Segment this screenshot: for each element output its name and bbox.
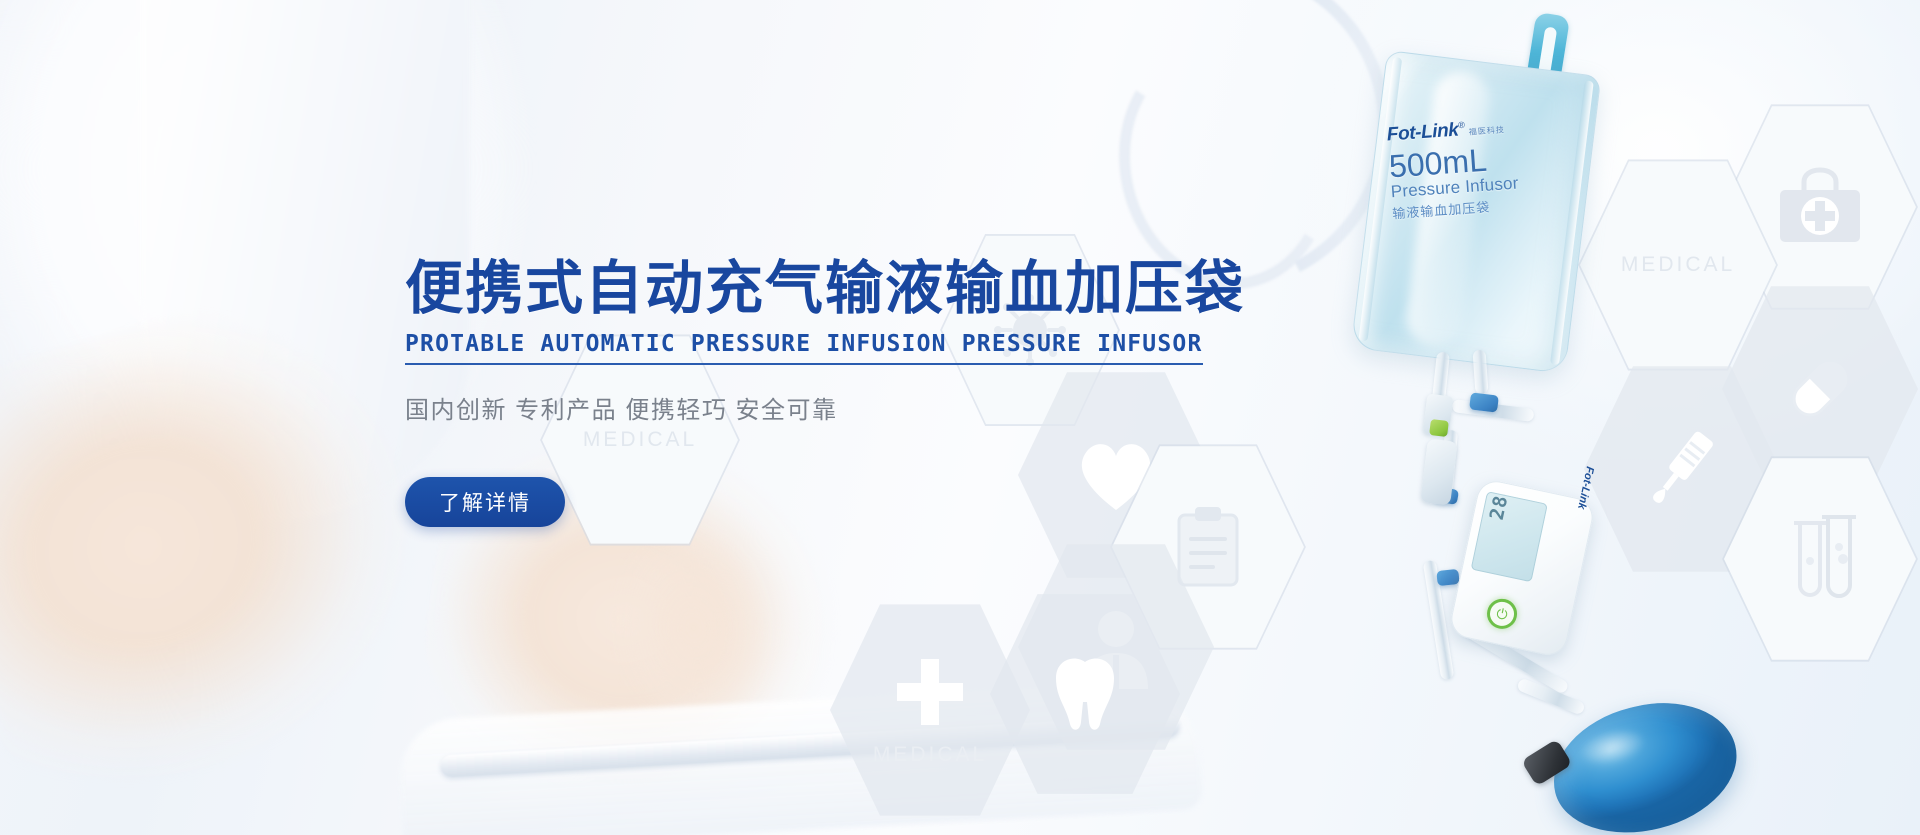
bag-hanging-hook [1524,12,1570,98]
banner-subtitle-underline: PROTABLE AUTOMATIC PRESSURE INFUSION PRE… [405,331,1203,365]
cross-icon: MEDICAL [873,653,987,767]
bag-label: Fot-Link®福医科技 500mL Pressure Infusor 输液输… [1386,113,1552,222]
capsule-icon [1774,343,1866,435]
tooth-icon [1046,652,1124,736]
pump-lcd-screen: 288mmHg [1471,491,1548,582]
bag-brand-name: Fot-Link [1386,120,1459,146]
nurse-finger [588,511,802,770]
bag-highlight [1403,68,1492,349]
banner-title: 便携式自动充气输液输血加压袋 [405,258,1225,321]
bag-volume-text: 500mL [1388,139,1550,184]
pump-reading-value: 288mmHg [1486,491,1520,522]
medical-kit-icon [1774,164,1866,250]
hook-clip [1511,73,1559,109]
banner-tagline: 国内创新 专利产品 便携轻巧 安全可靠 [405,390,1225,425]
dropper-icon [1636,423,1728,515]
bag-seam-right [1550,80,1594,365]
pump-reading-number: 288 [1486,491,1515,522]
banner-subtitle: PROTABLE AUTOMATIC PRESSURE INFUSION PRE… [405,331,1203,357]
valve-green-indicator [1429,419,1449,437]
pressure-infusion-bag: Fot-Link®福医科技 500mL Pressure Infusor 输液输… [1351,50,1602,374]
product-hero-banner: MEDICAL [0,0,1920,835]
hook-body [1524,12,1570,98]
bag-body [1351,50,1602,374]
hex-label-text: MEDICAL [1621,253,1735,277]
test-tube-icon [1778,513,1862,605]
hex-label-text: MEDICAL [873,743,987,767]
banner-copy-block: 便携式自动充气输液输血加压袋 PROTABLE AUTOMATIC PRESSU… [405,258,1225,527]
bag-brand-logo: Fot-Link®福医科技 [1386,113,1547,146]
bag-subtitle-en: Pressure Infusor [1390,171,1551,202]
bulb-release-valve [1521,739,1573,787]
registered-mark: ® [1458,120,1465,130]
bag-seam-left [1358,57,1402,342]
tube-to-bulb [1460,622,1570,695]
learn-more-button[interactable]: 了解详情 [405,477,565,527]
valve-blue-lower [1436,569,1459,586]
power-icon: ⏻ [1495,606,1509,622]
hook-slot [1538,26,1557,75]
valve-blue-top [1469,392,1499,412]
tube-upper-mid [1472,350,1488,395]
pump-power-button[interactable]: ⏻ [1484,596,1520,632]
bag-brand-name-cn: 福医科技 [1469,125,1506,136]
bag-subtitle-cn: 输液输血加压袋 [1392,192,1553,222]
bulb-highlight [1576,723,1649,770]
